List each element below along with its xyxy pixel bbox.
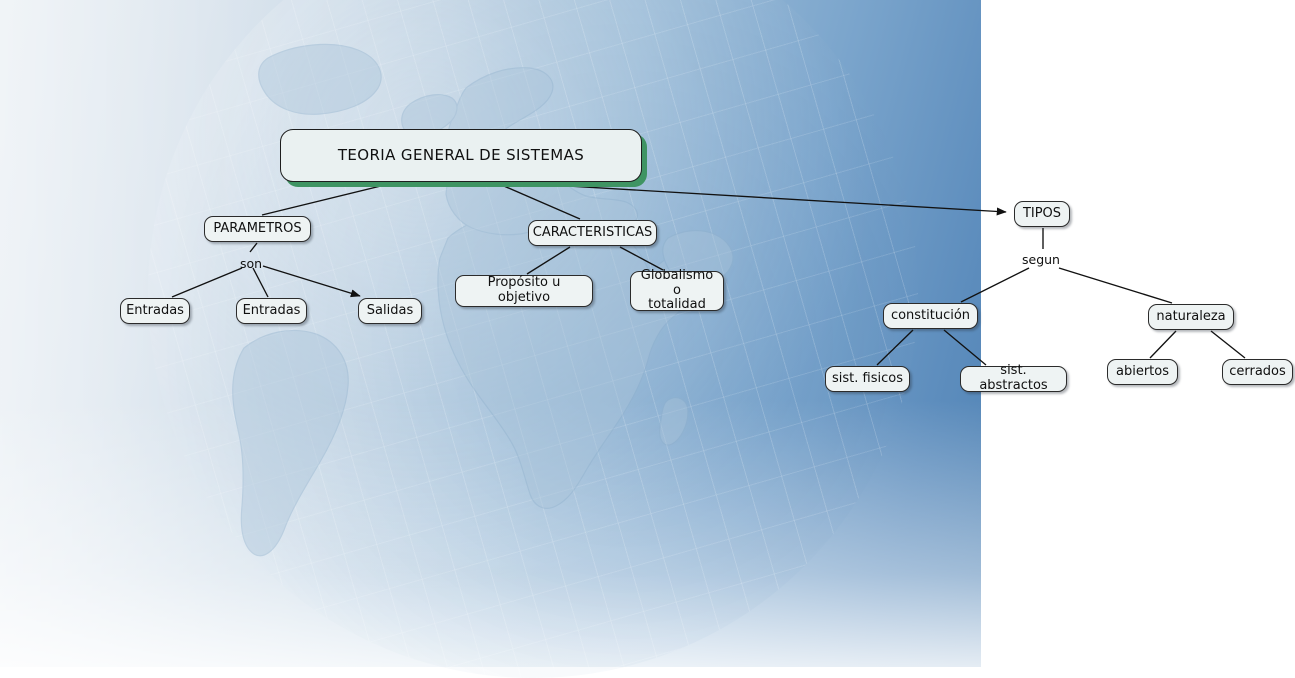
concept-node-salidas[interactable]: Salidas <box>358 298 422 324</box>
background-globe-image <box>0 0 981 667</box>
concept-node-tipos[interactable]: TIPOS <box>1014 201 1070 227</box>
concept-node-cerrados[interactable]: cerrados <box>1222 359 1293 385</box>
edge-segun-naturaleza <box>1059 268 1172 303</box>
concept-map-canvas[interactable]: TEORIA GENERAL DE SISTEMASPARAMETROSEntr… <box>0 0 1295 667</box>
concept-node-entradas1[interactable]: Entradas <box>120 298 190 324</box>
concept-node-entradas2[interactable]: Entradas <box>236 298 307 324</box>
link-label-segun[interactable]: segun <box>1022 252 1060 267</box>
concept-node-sist_abstractos[interactable]: sist. abstractos <box>960 366 1067 392</box>
globe-continents-decoration <box>148 0 918 678</box>
link-label-son[interactable]: son <box>240 256 262 271</box>
concept-node-caracteristicas[interactable]: CARACTERISTICAS <box>528 220 657 246</box>
edge-naturaleza-abiertos <box>1150 331 1176 358</box>
concept-node-naturaleza[interactable]: naturaleza <box>1148 304 1234 330</box>
concept-node-sist_fisicos[interactable]: sist. fisicos <box>825 366 910 392</box>
concept-node-globalismo[interactable]: Globalismo o totalidad <box>630 271 724 311</box>
edge-naturaleza-cerrados <box>1211 331 1245 358</box>
concept-node-proposito[interactable]: Propósito u objetivo <box>455 275 593 307</box>
concept-node-parametros[interactable]: PARAMETROS <box>204 216 311 242</box>
concept-node-root[interactable]: TEORIA GENERAL DE SISTEMAS <box>280 129 642 182</box>
concept-node-abiertos[interactable]: abiertos <box>1107 359 1178 385</box>
concept-node-constitucion[interactable]: constitución <box>883 303 978 329</box>
